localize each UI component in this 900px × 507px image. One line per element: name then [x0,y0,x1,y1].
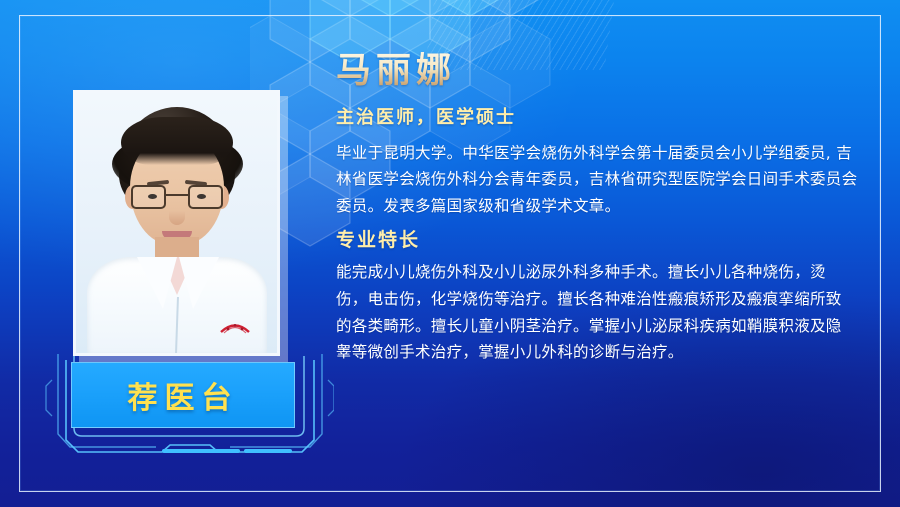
photo-frame [73,90,280,356]
plaque-container: 荐医台 [44,352,334,448]
portrait-image [76,93,277,353]
plaque-panel[interactable]: 荐医台 [71,362,295,428]
hospital-emblem-icon [219,319,251,337]
coat-collar-right [179,257,219,309]
portrait-fringe [121,117,233,165]
specialty-description: 能完成小儿烧伤外科及小儿泌尿外科多种手术。擅长小儿各种烧伤，烫伤，电击伤，化学烧… [336,259,852,366]
doctor-photo [73,90,288,365]
doctor-name: 马丽娜 [336,52,866,91]
portrait-eyeglasses [131,185,223,211]
plaque-label: 荐医台 [72,363,294,427]
eyeglass-bridge [166,194,188,196]
plaque-underbar-left [162,449,240,453]
coat-collar-left [137,257,177,309]
doctor-info-column: 马丽娜 主治医师，医学硕士 毕业于昆明大学。中华医学会烧伤外科学会第十届委员会小… [336,52,866,366]
specialty-heading: 专业特长 [336,225,866,252]
doctor-biography: 毕业于昆明大学。中华医学会烧伤外科学会第十届委员会小儿学组委员, 吉林省医学会烧… [336,140,866,220]
eyeglass-lens-right [188,185,223,209]
doctor-title: 主治医师，医学硕士 [336,103,866,129]
plaque-underbar-right [244,449,292,453]
doctor-profile-card: 荐医台 马丽娜 主治医师，医学硕士 毕业于昆明大学。中华医学会烧伤外科学会第十届… [0,0,900,507]
eyeglass-lens-left [131,185,166,209]
